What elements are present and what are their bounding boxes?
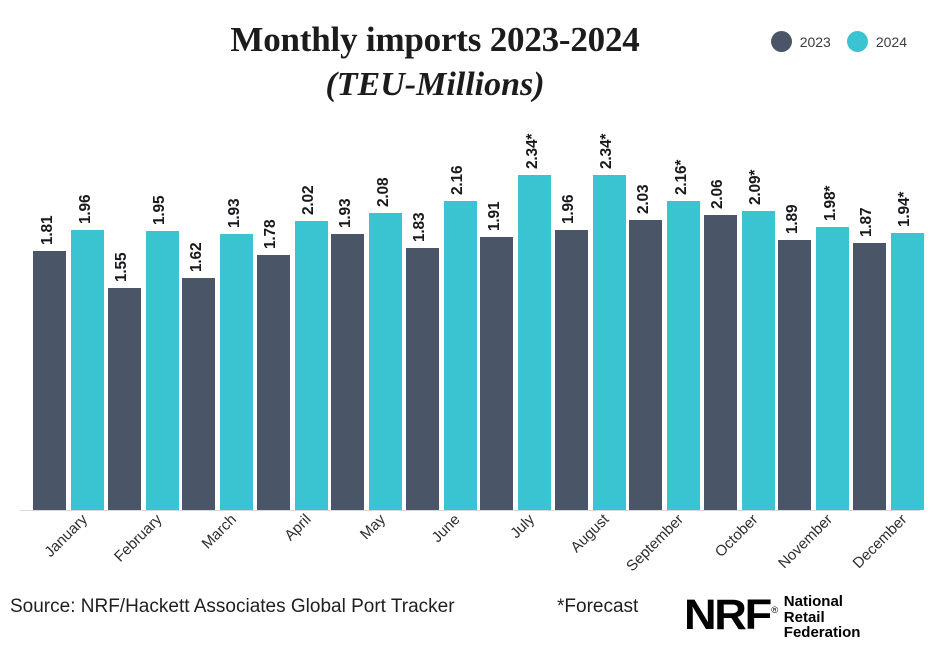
bar-rect: [480, 237, 513, 510]
circle-marker: [771, 31, 792, 52]
bar-2023-february[interactable]: 1.55: [108, 140, 141, 510]
bar-group: 1.621.93: [182, 140, 254, 510]
legend-item-2024[interactable]: 2024: [847, 31, 907, 52]
bar-group: 1.551.95: [108, 140, 180, 510]
bar-2023-september[interactable]: 2.03: [629, 140, 662, 510]
bar-value-label: 1.94*: [896, 191, 914, 226]
bar-group: 1.912.34*: [480, 140, 552, 510]
bar-value-label: 2.02: [300, 186, 318, 215]
bar-value-label: 2.34*: [524, 134, 542, 169]
x-tick-label-january: January: [23, 511, 91, 579]
bar-value-label: 1.81: [39, 216, 57, 245]
bar-2023-march[interactable]: 1.62: [182, 140, 215, 510]
bar-rect: [667, 201, 700, 510]
bar-value-label: 1.93: [337, 199, 355, 228]
bar-value-label: 1.89: [784, 204, 802, 233]
forecast-asterisk: *: [822, 186, 839, 192]
bar-rect: [593, 175, 626, 510]
forecast-asterisk: *: [896, 191, 913, 197]
bar-rect: [778, 240, 811, 510]
nrf-wordmark: NRF ®: [684, 592, 770, 639]
bar-group: 1.932.08: [331, 140, 403, 510]
bar-value-label: 1.96: [560, 194, 578, 223]
bar-rect: [331, 234, 364, 510]
forecast-note: *Forecast: [557, 596, 638, 618]
bar-rect: [182, 278, 215, 510]
bar-rect: [704, 215, 737, 510]
bar-value-label: 2.06: [709, 180, 727, 209]
bar-rect: [444, 201, 477, 510]
bar-rect: [295, 221, 328, 510]
bar-group: 1.832.16: [406, 140, 478, 510]
bar-value-label: 2.16: [449, 166, 467, 195]
bar-2023-december[interactable]: 1.87: [853, 140, 886, 510]
bar-value-label: 2.16*: [673, 160, 691, 195]
registered-trademark-icon: ®: [771, 587, 778, 634]
page-title: Monthly imports 2023-2024 (TEU-Millions): [155, 18, 715, 108]
bar-value-label: 1.98*: [822, 186, 840, 221]
bar-rect: [853, 243, 886, 510]
bar-value-label: 1.83: [411, 213, 429, 242]
chart-legend: 20232024: [771, 31, 907, 52]
chart-plot-area: 1.811.961.551.951.621.931.782.021.932.08…: [0, 125, 935, 525]
legend-item-2023[interactable]: 2023: [771, 31, 831, 52]
bar-value-label: 1.95: [151, 196, 169, 225]
bar-group: 1.871.94*: [853, 140, 925, 510]
nrf-logo: NRF ® National Retail Federation: [684, 592, 860, 641]
bar-rect: [406, 248, 439, 510]
bar-rect: [555, 230, 588, 510]
x-axis-tick-labels: JanuaryFebruaryMarchAprilMayJuneJulyAugu…: [0, 511, 935, 586]
nrf-word-national: National: [784, 594, 861, 610]
bar-group: 2.032.16*: [629, 140, 701, 510]
bar-value-label: 1.87: [858, 207, 876, 236]
bar-value-label: 1.93: [226, 199, 244, 228]
bar-rect: [146, 231, 179, 510]
bar-rect: [257, 255, 290, 510]
legend-label: 2024: [876, 34, 907, 50]
bar-2023-july[interactable]: 1.91: [480, 140, 513, 510]
bar-2024-october[interactable]: 2.09*: [742, 140, 775, 510]
chart-page: Monthly imports 2023-2024 (TEU-Millions)…: [0, 0, 935, 659]
bar-group: 1.811.96: [33, 140, 105, 510]
bar-group: 1.962.34*: [555, 140, 627, 510]
bar-2023-june[interactable]: 1.83: [406, 140, 439, 510]
chart-footer: Source: NRF/Hackett Associates Global Po…: [0, 586, 935, 659]
bar-rect: [891, 233, 924, 510]
bar-rect: [71, 230, 104, 510]
bar-2023-november[interactable]: 1.89: [778, 140, 811, 510]
bar-rect: [33, 251, 66, 510]
bar-2023-may[interactable]: 1.93: [331, 140, 364, 510]
forecast-asterisk: *: [598, 134, 615, 140]
circle-marker: [847, 31, 868, 52]
bar-2024-february[interactable]: 1.95: [146, 140, 179, 510]
legend-label: 2023: [800, 34, 831, 50]
bar-rect: [742, 211, 775, 510]
bar-value-label: 2.09*: [747, 170, 765, 205]
bar-2024-january[interactable]: 1.96: [71, 140, 104, 510]
nrf-word-federation: Federation: [784, 625, 861, 641]
nrf-word-retail: Retail: [784, 610, 861, 626]
bar-rect: [816, 227, 849, 510]
nrf-full-name: National Retail Federation: [784, 594, 861, 641]
bar-value-label: 2.03: [635, 184, 653, 213]
bar-value-label: 1.96: [77, 194, 95, 223]
title-line-1: Monthly imports 2023-2024: [155, 18, 715, 62]
forecast-asterisk: *: [673, 160, 690, 166]
bar-2024-april[interactable]: 2.02: [295, 140, 328, 510]
nrf-mark-text: NRF: [684, 591, 770, 639]
bar-value-label: 2.34*: [598, 134, 616, 169]
bar-value-label: 1.91: [486, 202, 504, 231]
bar-2023-october[interactable]: 2.06: [704, 140, 737, 510]
bar-2024-september[interactable]: 2.16*: [667, 140, 700, 510]
bar-2024-june[interactable]: 2.16: [444, 140, 477, 510]
bar-value-label: 1.78: [262, 220, 280, 249]
bar-rect: [629, 220, 662, 510]
bar-value-label: 1.55: [113, 253, 131, 282]
title-line-2: (TEU-Millions): [155, 62, 715, 108]
bar-group: 1.891.98*: [778, 140, 850, 510]
bar-rect: [108, 288, 141, 510]
forecast-asterisk: *: [747, 170, 764, 176]
bar-rect: [518, 175, 551, 510]
chart-header: Monthly imports 2023-2024 (TEU-Millions)…: [0, 0, 935, 125]
bar-rect: [220, 234, 253, 510]
bar-2023-august[interactable]: 1.96: [555, 140, 588, 510]
source-note: Source: NRF/Hackett Associates Global Po…: [10, 596, 455, 618]
bar-2023-january[interactable]: 1.81: [33, 140, 66, 510]
bar-rect: [369, 213, 402, 510]
bar-value-label: 2.08: [375, 177, 393, 206]
forecast-asterisk: *: [524, 134, 541, 140]
bar-group: 1.782.02: [257, 140, 329, 510]
bar-2024-november[interactable]: 1.98*: [816, 140, 849, 510]
bar-2024-august[interactable]: 2.34*: [593, 140, 626, 510]
bar-group: 2.062.09*: [704, 140, 776, 510]
bar-2024-march[interactable]: 1.93: [220, 140, 253, 510]
bar-2024-may[interactable]: 2.08: [369, 140, 402, 510]
bar-2024-december[interactable]: 1.94*: [891, 140, 924, 510]
bar-value-label: 1.62: [188, 243, 206, 272]
bar-2023-april[interactable]: 1.78: [257, 140, 290, 510]
bar-2024-july[interactable]: 2.34*: [518, 140, 551, 510]
